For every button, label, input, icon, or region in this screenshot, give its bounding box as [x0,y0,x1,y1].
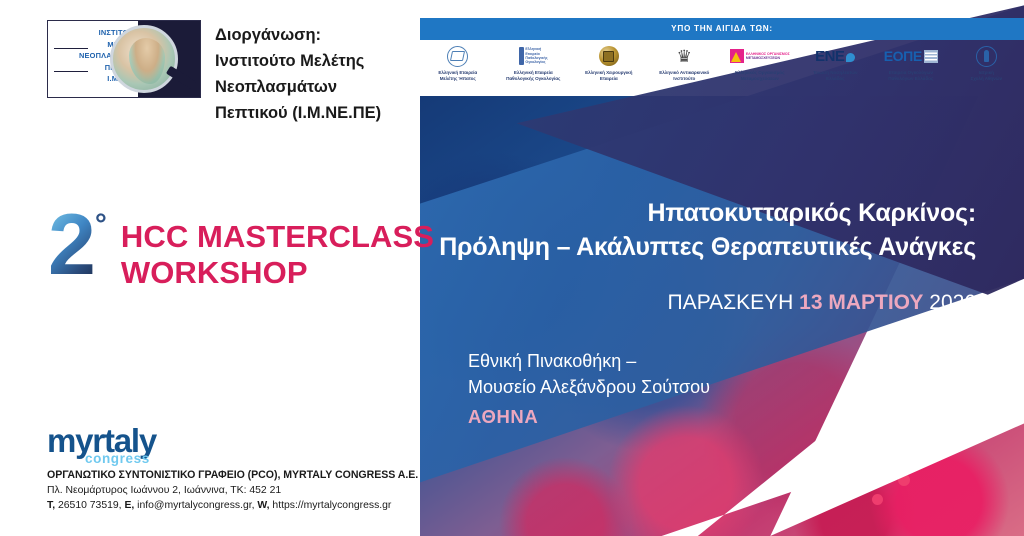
sponsor-logo-strip: Ελληνική Εταιρεία Μελέτης Ήπατος Ελληνικ… [420,44,1024,96]
sponsor-item: Ελληνική Εταιρεία Μελέτης Ήπατος [420,44,496,96]
sponsor-label: Ελληνικός Οργανισμός Μεταμοσχεύσεων [735,70,784,82]
event-title-block: Ηπατοκυτταρικός Καρκίνος: Πρόληψη – Ακάλ… [439,196,976,316]
sponsor-label-line-2: Σχολή Αθηνών [970,76,1002,82]
eope-wordmark: ΕΟΠΕ [884,49,922,63]
organizer-text: Διοργάνωση: Ινστιτούτο Μελέτης Νεοπλασμά… [215,20,381,126]
sponsor-label: Εταιρεία Ογκολόγων Παθολόγων Ελλάδος [888,70,933,82]
venue-block: Εθνική Πινακοθήκη – Μουσείο Αλεξάνδρου Σ… [468,348,710,428]
logo-rule-2 [54,71,88,72]
organizer-line-3: Πεπτικού (Ι.Μ.ΝΕ.ΠΕ) [215,100,381,126]
tel-label: Τ, [47,500,55,511]
imnepe-logo: ΙΝΣΤΙΤΟΥΤΟ ΜΕΛΕΤΗΣ ΝΕΟΠΛΑΣΜΑΤΩΝ ΠΕΠΤΙΚΟΥ… [47,20,201,98]
right-panel: ΥΠΟ ΤΗΝ ΑΙΓΙΔΑ ΤΩΝ: Ελληνική Εταιρεία Με… [420,0,1024,536]
sponsor-label-line-2: Ελλάδος [813,76,858,82]
edition-degree-symbol: ° [95,208,107,242]
sponsor-item: Ελληνική Χειρουργική Εταιρεία [571,44,647,96]
organizer-line-2: Νεοπλασμάτων [215,74,381,100]
event-date: ΠΑΡΑΣΚΕΥΗ 13 ΜΑΡΤΙΟΥ 2026 [439,290,976,316]
event-date-weekday: ΠΑΡΑΣΚΕΥΗ [668,291,800,314]
sponsor-item: Ιατρική Σχολή Αθηνών [949,44,1024,96]
myrtaly-logo: myrtaly congress [47,424,156,466]
sponsor-item: ΕΟΠΕ Εταιρεία Ογκολόγων Παθολόγων Ελλάδο… [873,44,949,96]
nurses-union-icon: ENE [815,44,855,68]
email-value[interactable]: info@myrtalycongress.gr, [134,500,257,511]
sponsor-item: ΕλληνικήΕταιρείαΠαθολογικήςΟγκολογίας Ελ… [496,44,572,96]
sponsor-label: Ελληνική Χειρουργική Εταιρεία [585,70,632,82]
event-title-line-2: Πρόληψη – Ακάλυπτες Θεραπευτικές Ανάγκες [439,230,976,264]
organizer-heading: Διοργάνωση: [215,22,381,48]
pathological-oncology-icon: ΕλληνικήΕταιρείαΠαθολογικήςΟγκολογίας [519,44,548,68]
sponsor-label-line-2: Μεταμοσχεύσεων [735,76,784,82]
venue-line-2: Μουσείο Αλεξάνδρου Σούτσου [468,374,710,400]
web-value[interactable]: https://myrtalycongress.gr [270,500,392,511]
sponsor-item: ΕΛΛΗΝΙΚΟΣ ΟΡΓΑΝΙΣΜΟΣ ΜΕΤΑΜΟΣΧΕΥΣΕΩΝ Ελλη… [722,44,798,96]
sponsor-label-line-2: Μελέτης Ήπατος [438,76,477,82]
sponsor-item: ♛ Ελληνικό Αντικαρκινικό Ινστιτούτο [647,44,723,96]
pco-footer: ΟΡΓΑΝΩΤΙΚΟ ΣΥΝΤΟΝΙΣΤΙΚΟ ΓΡΑΦΕΙΟ (PCO), M… [47,468,418,513]
event-date-year: 2026 [923,291,976,314]
liver-study-society-icon [447,44,468,68]
aegis-heading: ΥΠΟ ΤΗΝ ΑΙΓΙΔΑ ΤΩΝ: [420,18,1024,40]
venue-city: ΑΘΗΝΑ [468,406,710,428]
left-column: ΙΝΣΤΙΤΟΥΤΟ ΜΕΛΕΤΗΣ ΝΕΟΠΛΑΣΜΑΤΩΝ ΠΕΠΤΙΚΟΥ… [0,0,420,536]
cell-speck-icon [872,494,883,505]
event-name-line-1: HCC MASTERCLASS [121,219,434,255]
sponsor-label: Ελληνική Εταιρεία Μελέτης Ήπατος [438,70,477,82]
organizer-block: ΙΝΣΤΙΤΟΥΤΟ ΜΕΛΕΤΗΣ ΝΕΟΠΛΑΣΜΑΤΩΝ ΠΕΠΤΙΚΟΥ… [47,20,381,126]
surgical-medal-icon [599,44,619,68]
event-name-line-2: WORKSHOP [121,255,434,291]
stomach-illustration-icon [129,38,165,84]
edition-number: 2 [48,208,94,282]
aegis-bar: ΥΠΟ ΤΗΝ ΑΙΓΙΔΑ ΤΩΝ: [420,18,1024,40]
tel-value: 26510 73519, [55,500,124,511]
sponsor-label-line-2: Εταιρεία [585,76,632,82]
sponsor-label-line-2: Παθολογικής Ογκολογίας [506,76,560,82]
organizer-line-1: Ινστιτούτο Μελέτης [215,48,381,74]
sponsor-label: Ελληνικό Αντικαρκινικό Ινστιτούτο [659,70,709,82]
transplant-organization-icon: ΕΛΛΗΝΙΚΟΣ ΟΡΓΑΝΙΣΜΟΣ ΜΕΤΑΜΟΣΧΕΥΣΕΩΝ [730,44,790,68]
email-label: Ε, [124,500,134,511]
event-title-line-1: Ηπατοκυτταρικός Καρκίνος: [439,196,976,230]
oncology-pathologists-icon: ΕΟΠΕ [884,44,938,68]
pco-contact-line: Τ, 26510 73519, Ε, info@myrtalycongress.… [47,498,418,513]
event-name: HCC MASTERCLASS WORKSHOP [121,208,434,291]
sponsor-label: Ελληνική Εταιρεία Παθολογικής Ογκολογίας [506,70,560,82]
conference-banner: ΙΝΣΤΙΤΟΥΤΟ ΜΕΛΕΤΗΣ ΝΕΟΠΛΑΣΜΑΤΩΝ ΠΕΠΤΙΚΟΥ… [0,0,1024,536]
sponsor-label: Ένωση Νοσηλευτών Ελλάδος [813,70,858,82]
sponsor-item: ENE Ένωση Νοσηλευτών Ελλάδος [798,44,874,96]
venue-line-1: Εθνική Πινακοθήκη – [468,348,710,374]
pco-line-2: Πλ. Νεομάρτυρος Ιωάννου 2, Ιωάννινα, ΤΚ:… [47,483,418,498]
logo-rule-1 [54,48,88,49]
ene-wordmark: ENE [815,49,844,64]
medical-school-icon [976,44,997,68]
sponsor-label-line-2: Ινστιτούτο [659,76,709,82]
anticancer-institute-icon: ♛ [674,44,695,68]
event-date-day-month: 13 ΜΑΡΤΙΟΥ [799,291,923,314]
magnifier-icon [110,25,178,93]
web-label: W, [257,500,269,511]
sponsor-label-line-2: Παθολόγων Ελλάδος [888,76,933,82]
sponsor-label: Ιατρική Σχολή Αθηνών [970,70,1002,82]
myrtaly-subtitle: congress [85,451,156,466]
pco-line-1: ΟΡΓΑΝΩΤΙΚΟ ΣΥΝΤΟΝΙΣΤΙΚΟ ΓΡΑΦΕΙΟ (PCO), M… [47,468,418,483]
transplant-mark-line-2: ΜΕΤΑΜΟΣΧΕΥΣΕΩΝ [746,56,790,60]
event-name-block: 2 ° HCC MASTERCLASS WORKSHOP [48,208,434,291]
